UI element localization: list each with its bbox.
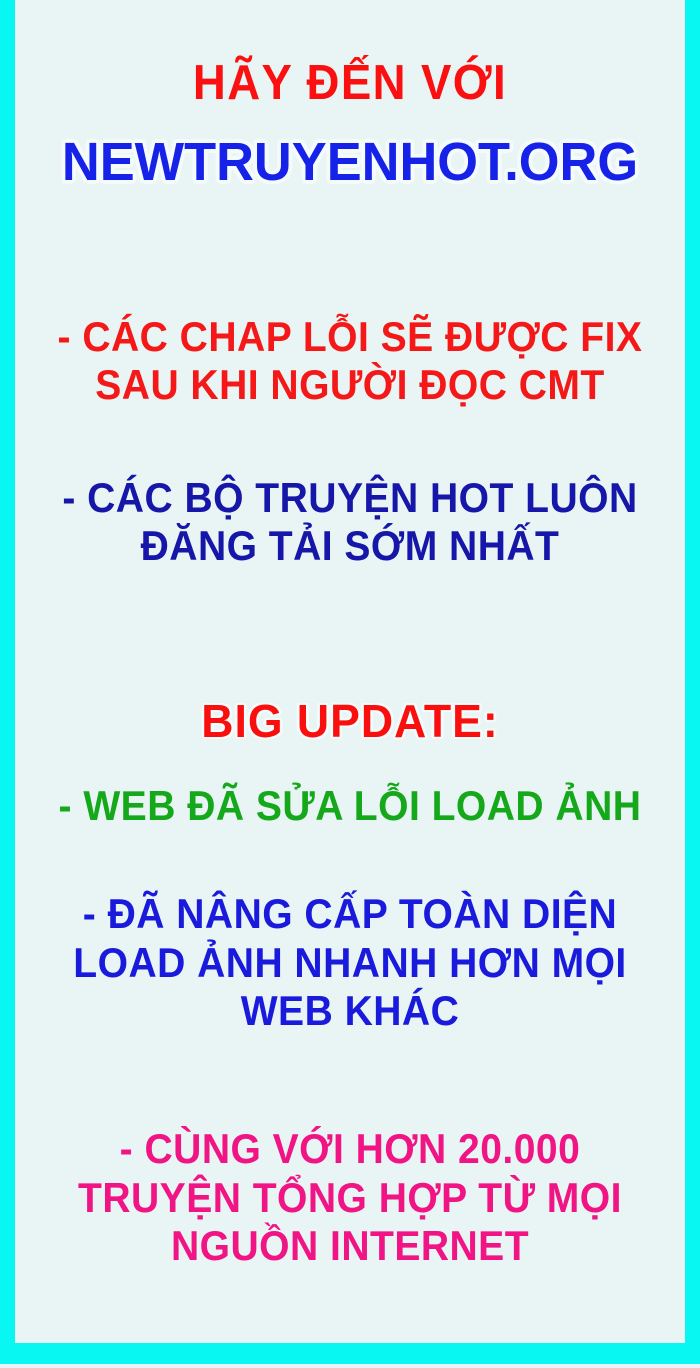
bullet-fix-line-2: SAU KHI NGƯỜI ĐỌC CMT [38, 361, 661, 409]
bullet-item-upgrade: - ĐÃ NÂNG CẤP TOÀN DIỆN LOAD ẢNH NHANH H… [15, 890, 685, 1036]
bullet-upgrade-line-3: WEB KHÁC [38, 987, 661, 1036]
bottom-edge-strip [0, 1364, 700, 1368]
headline-block: HÃY ĐẾN VỚI [15, 58, 685, 109]
bullet-item-imgfix: - WEB ĐÃ SỬA LỖI LOAD ẢNH [15, 784, 685, 828]
headline-text: HÃY ĐẾN VỚI [38, 58, 661, 109]
bullet-upgrade-line-1: - ĐÃ NÂNG CẤP TOÀN DIỆN [38, 890, 661, 939]
bullet-hot-line-2: ĐĂNG TẢI SỚM NHẤT [38, 522, 661, 570]
bullet-item-fix: - CÁC CHAP LỖI SẼ ĐƯỢC FIX SAU KHI NGƯỜI… [15, 313, 685, 409]
bullet-fix-line-1: - CÁC CHAP LỖI SẼ ĐƯỢC FIX [38, 313, 661, 361]
bullet-count-line-3: NGUỒN INTERNET [38, 1222, 661, 1271]
site-url-block: NEWTRUYENHOT.ORG [15, 134, 685, 190]
bullet-upgrade-line-2: LOAD ẢNH NHANH HƠN MỌI [38, 939, 661, 988]
site-url-text[interactable]: NEWTRUYENHOT.ORG [25, 134, 675, 190]
bullet-item-count: - CÙNG VỚI HƠN 20.000 TRUYỆN TỔNG HỢP TỪ… [15, 1125, 685, 1271]
bullet-count-line-1: - CÙNG VỚI HƠN 20.000 [38, 1125, 661, 1174]
big-update-heading-block: BIG UPDATE: [15, 698, 685, 746]
bullet-count-line-2: TRUYỆN TỔNG HỢP TỪ MỌI [38, 1174, 661, 1223]
banner-content-panel: HÃY ĐẾN VỚI NEWTRUYENHOT.ORG - CÁC CHAP … [15, 0, 685, 1343]
bullet-imgfix-line-1: - WEB ĐÃ SỬA LỖI LOAD ẢNH [38, 784, 661, 828]
big-update-heading: BIG UPDATE: [25, 698, 675, 746]
promo-banner: HÃY ĐẾN VỚI NEWTRUYENHOT.ORG - CÁC CHAP … [0, 0, 700, 1368]
bullet-item-hot: - CÁC BỘ TRUYỆN HOT LUÔN ĐĂNG TẢI SỚM NH… [15, 474, 685, 570]
bullet-hot-line-1: - CÁC BỘ TRUYỆN HOT LUÔN [38, 474, 661, 522]
